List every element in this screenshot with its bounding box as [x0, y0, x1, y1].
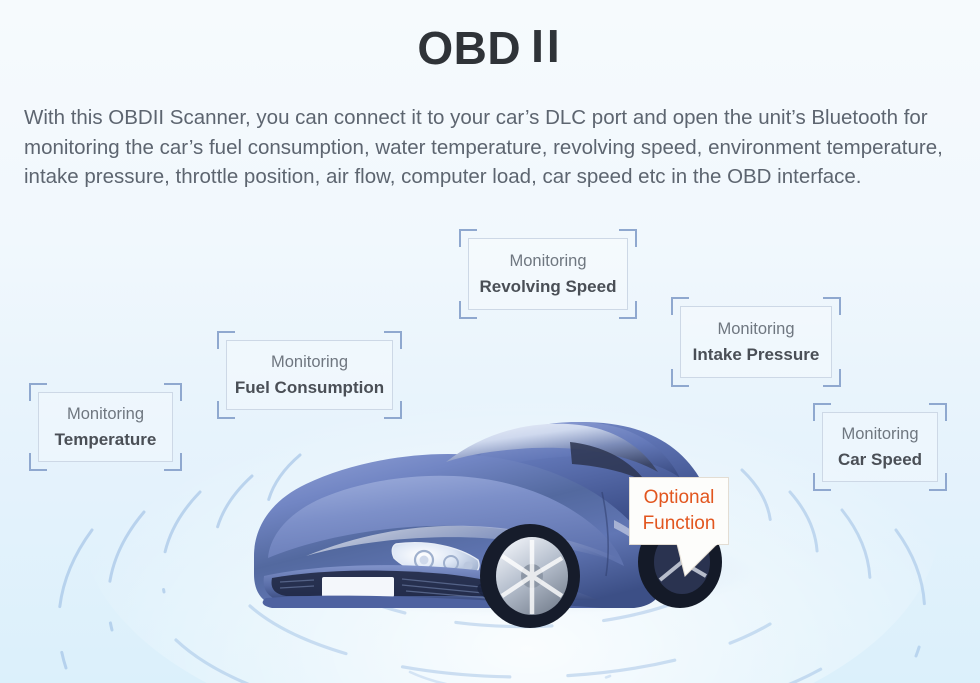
optional-function-callout[interactable]: Optional Function — [629, 477, 729, 545]
callout-fuel-consumption[interactable]: Monitoring Fuel Consumption — [226, 340, 393, 410]
callout-label: Fuel Consumption — [235, 376, 384, 399]
callout-label: Intake Pressure — [693, 343, 820, 366]
callout-prefix: Monitoring — [67, 403, 144, 426]
callout-prefix: Monitoring — [717, 318, 794, 341]
callout-intake-pressure[interactable]: Monitoring Intake Pressure — [680, 306, 832, 378]
callout-label: Revolving Speed — [480, 275, 617, 298]
callout-car-speed[interactable]: Monitoring Car Speed — [822, 412, 938, 482]
title-suffix: II — [531, 18, 563, 74]
callout-temperature[interactable]: Monitoring Temperature — [38, 392, 173, 462]
bubble-line-2: Function — [643, 511, 716, 537]
callout-prefix: Monitoring — [271, 351, 348, 374]
bubble-tail-icon — [675, 544, 719, 578]
bubble-line-1: Optional — [644, 485, 715, 511]
callout-prefix: Monitoring — [841, 423, 918, 446]
callout-revolving-speed[interactable]: Monitoring Revolving Speed — [468, 238, 628, 310]
bubble-body: Optional Function — [629, 477, 729, 545]
page-title: OBDII — [0, 20, 980, 76]
callout-label: Temperature — [55, 428, 157, 451]
intro-paragraph: With this OBDII Scanner, you can connect… — [24, 103, 956, 192]
obd-feature-page: OBDII With this OBDII Scanner, you can c… — [0, 0, 980, 683]
title-main: OBD — [417, 22, 521, 74]
callout-label: Car Speed — [838, 448, 922, 471]
callout-prefix: Monitoring — [509, 250, 586, 273]
